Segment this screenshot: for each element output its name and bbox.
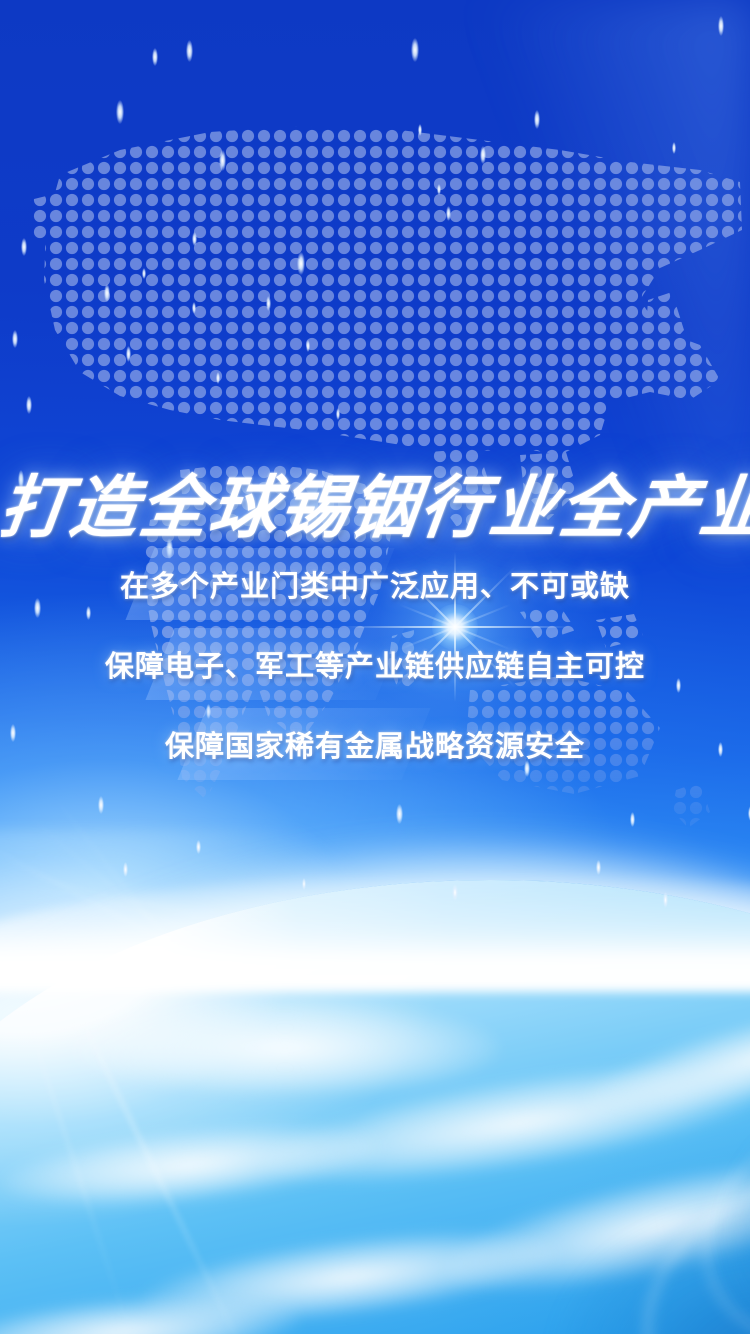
page-title: 打造全球锡铟行业全产业链链主	[0, 460, 750, 556]
subtitle-row-2: 保障电子、军工等产业链供应链自主可控	[0, 628, 750, 700]
poster-root: 打造全球锡铟行业全产业链链主 在多个产业门类中广泛应用、不可或缺 保障电子、军工…	[0, 0, 750, 1334]
subtitle-text-3: 保障国家稀有金属战略资源安全	[0, 708, 750, 780]
poster-content: 打造全球锡铟行业全产业链链主 在多个产业门类中广泛应用、不可或缺 保障电子、军工…	[0, 0, 750, 1334]
subtitle-text-2: 保障电子、军工等产业链供应链自主可控	[0, 628, 750, 700]
subtitle-text-1: 在多个产业门类中广泛应用、不可或缺	[0, 548, 750, 620]
subtitle-row-1: 在多个产业门类中广泛应用、不可或缺	[0, 548, 750, 620]
subtitle-row-3: 保障国家稀有金属战略资源安全	[0, 708, 750, 780]
